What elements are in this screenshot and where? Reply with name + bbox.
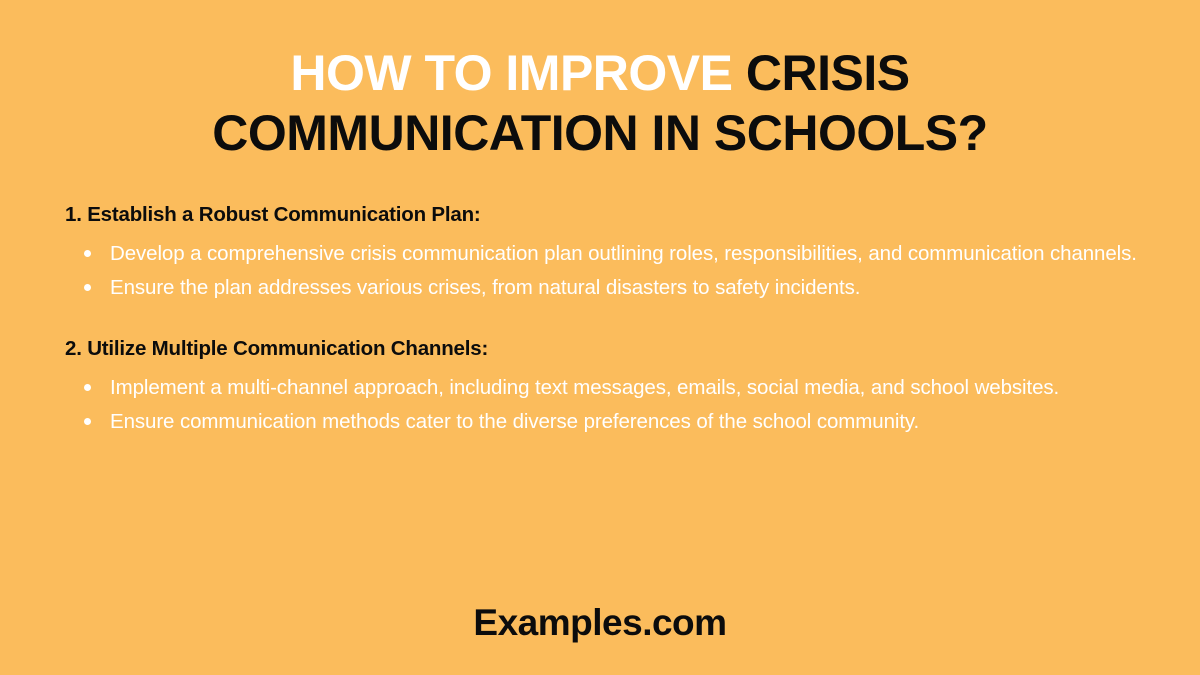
title-part-black: CRISIS <box>746 45 910 101</box>
section-2-bullet-list: Implement a multi-channel approach, incl… <box>65 371 1145 439</box>
bullet-dot-icon <box>84 384 91 391</box>
list-item: Implement a multi-channel approach, incl… <box>65 371 1145 405</box>
page-title: HOW TO IMPROVE CRISIS COMMUNICATION IN S… <box>0 0 1200 162</box>
list-item: Develop a comprehensive crisis communica… <box>65 237 1145 271</box>
list-item-text: Develop a comprehensive crisis communica… <box>110 242 1137 265</box>
list-item-text: Implement a multi-channel approach, incl… <box>110 371 1145 405</box>
brand-wordmark: Examples.com <box>0 601 1200 645</box>
section-2: 2. Utilize Multiple Communication Channe… <box>65 336 1145 439</box>
footer: Examples.com <box>0 601 1200 675</box>
title-line-1: HOW TO IMPROVE CRISIS <box>60 44 1140 102</box>
section-1-heading: 1. Establish a Robust Communication Plan… <box>65 202 1145 228</box>
list-item: Ensure the plan addresses various crises… <box>65 271 1145 305</box>
list-item-text: Ensure the plan addresses various crises… <box>110 276 860 299</box>
section-1: 1. Establish a Robust Communication Plan… <box>65 202 1145 305</box>
bullet-dot-icon <box>84 418 91 425</box>
title-line-2: COMMUNICATION IN SCHOOLS? <box>60 104 1140 162</box>
section-1-bullet-list: Develop a comprehensive crisis communica… <box>65 237 1145 305</box>
slide-canvas: HOW TO IMPROVE CRISIS COMMUNICATION IN S… <box>0 0 1200 675</box>
content-body: 1. Establish a Robust Communication Plan… <box>0 162 1200 601</box>
section-2-heading: 2. Utilize Multiple Communication Channe… <box>65 336 1145 362</box>
title-part-white: HOW TO IMPROVE <box>290 45 732 101</box>
bullet-dot-icon <box>84 284 91 291</box>
list-item: Ensure communication methods cater to th… <box>65 405 1145 439</box>
bullet-dot-icon <box>84 250 91 257</box>
list-item-text: Ensure communication methods cater to th… <box>110 405 1145 439</box>
